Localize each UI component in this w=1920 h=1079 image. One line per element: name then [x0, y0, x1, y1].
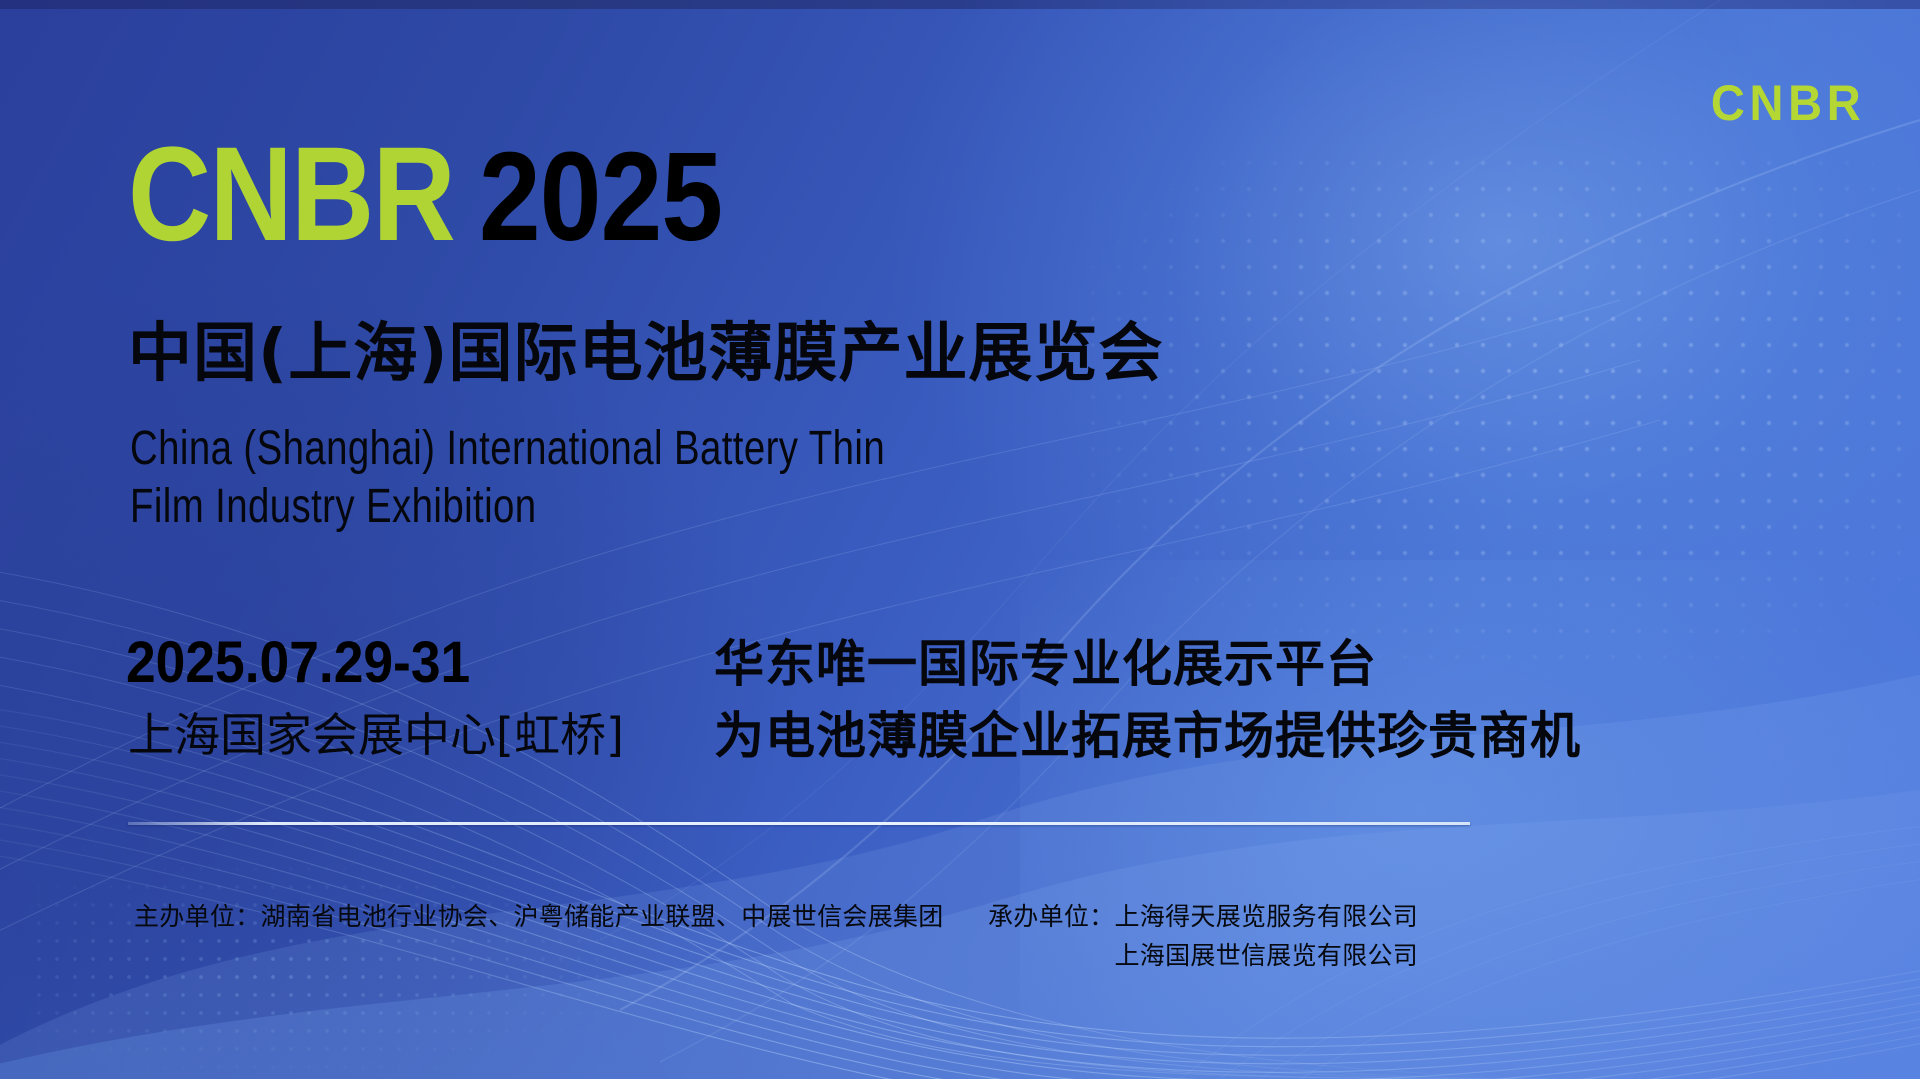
- wordmark-year: 2025: [479, 134, 722, 260]
- event-date: 2025.07.29-31: [126, 634, 470, 692]
- exhibition-poster: CNBR CNBR 2025 中国(上海)国际电池薄膜产业展览会 China (…: [0, 0, 1920, 1079]
- organizer-coordinators: 承办单位：上海得天展览服务有限公司 上海国展世信展览有限公司: [988, 898, 1418, 976]
- title-english: China (Shanghai) International Battery T…: [130, 420, 885, 535]
- corner-brand-logo: CNBR: [1710, 78, 1865, 128]
- event-venue: 上海国家会展中心[虹桥]: [128, 712, 624, 758]
- footer-divider: [128, 822, 1470, 825]
- event-slogan: 华东唯一国际专业化展示平台 为电池薄膜企业拓展市场提供珍贵商机: [714, 628, 1581, 772]
- title-chinese: 中国(上海)国际电池薄膜产业展览会: [128, 320, 1164, 389]
- poster-content: CNBR CNBR 2025 中国(上海)国际电池薄膜产业展览会 China (…: [0, 0, 1920, 1079]
- wordmark-brand: CNBR: [128, 128, 454, 262]
- main-wordmark: CNBR 2025: [128, 128, 755, 262]
- organizer-hosts: 主办单位：湖南省电池行业协会、沪粤储能产业联盟、中展世信会展集团: [134, 898, 944, 937]
